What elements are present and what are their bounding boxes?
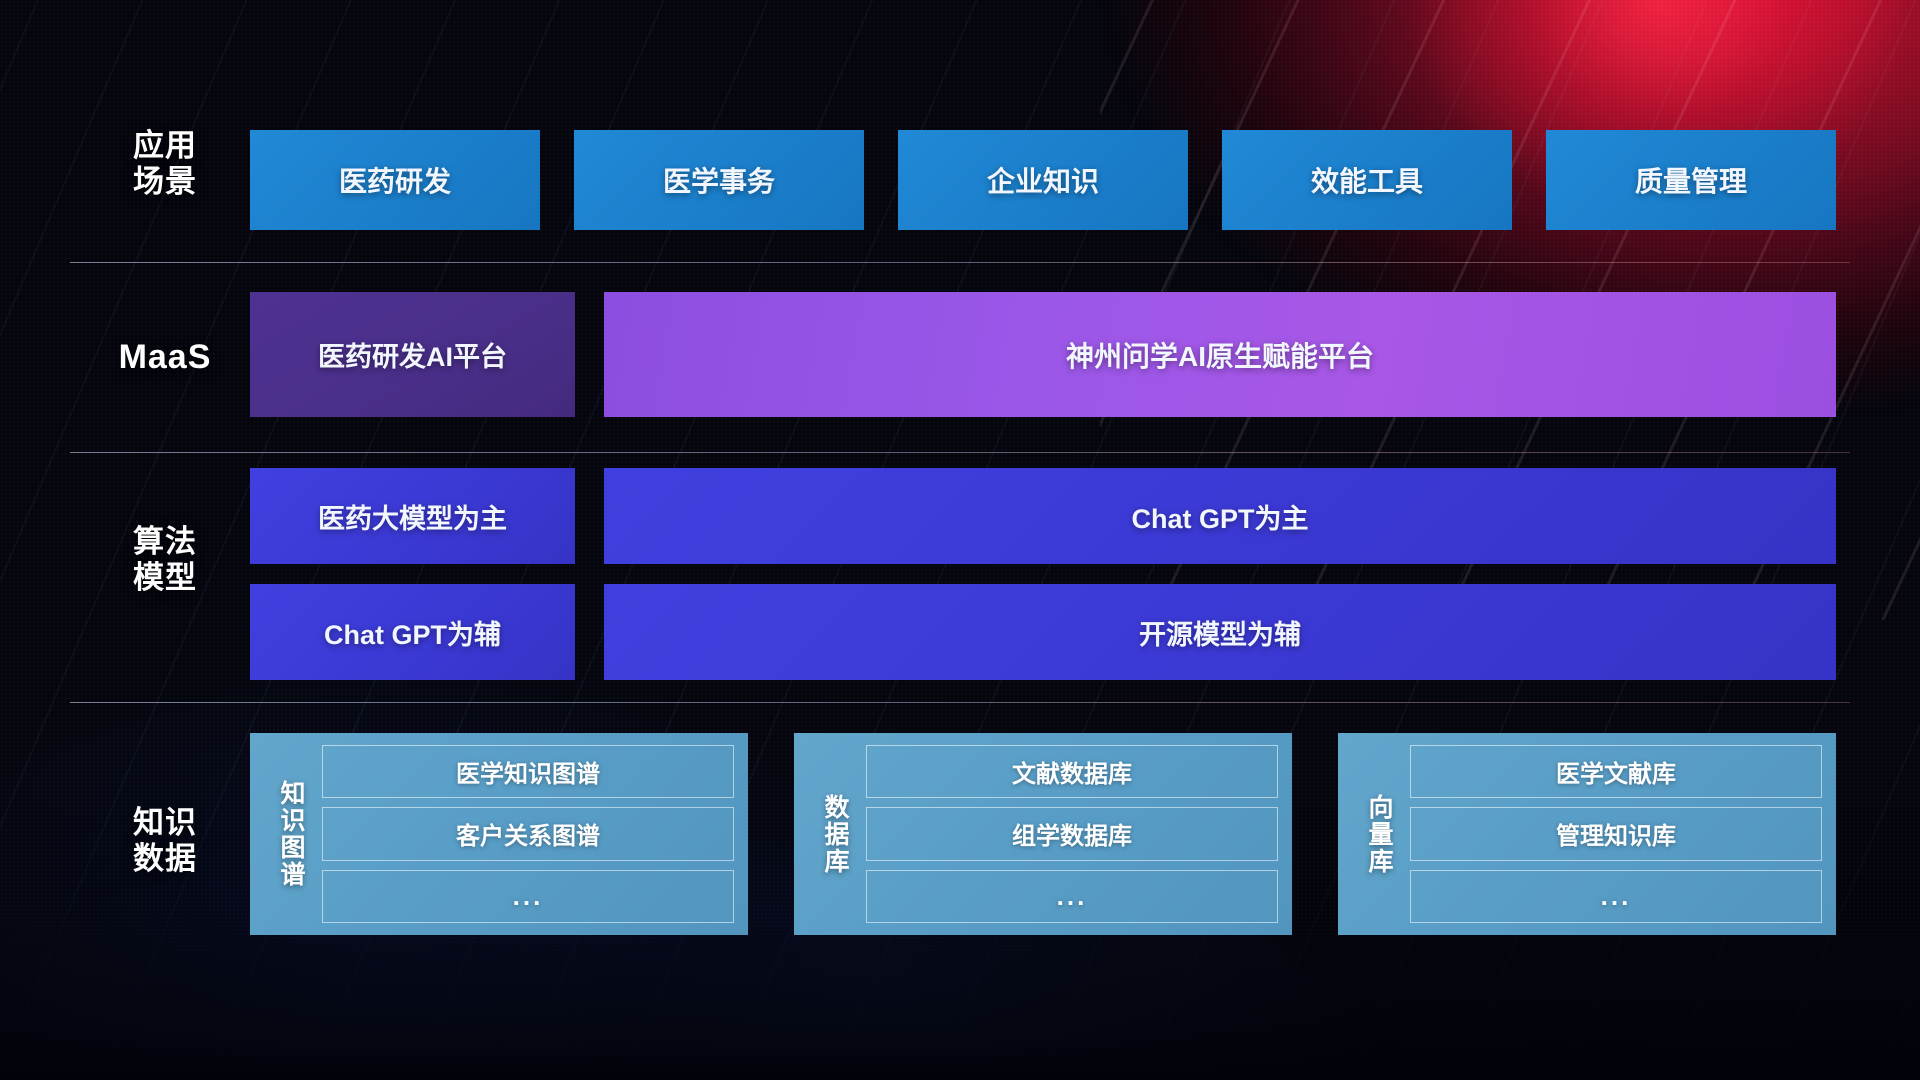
tile-label: 医药大模型为主 xyxy=(318,497,507,536)
divider-application-maas xyxy=(70,262,1850,263)
row-label-line: MaaS xyxy=(70,338,260,377)
tile-label: Chat GPT为主 xyxy=(1131,497,1308,536)
architecture-diagram: 应用 场景 医药研发 医学事务 企业知识 效能工具 质量管理 MaaS 医药研发… xyxy=(0,0,1920,1080)
row-label-line: 知识 xyxy=(70,805,260,841)
knowledge-item[interactable]: 文献数据库 xyxy=(866,745,1278,798)
tile-label: 效能工具 xyxy=(1311,160,1423,200)
tile-label: 开源模型为辅 xyxy=(1139,613,1301,652)
app-tile-medical-affairs[interactable]: 医学事务 xyxy=(574,130,864,230)
row-label-line: 模型 xyxy=(70,560,260,596)
tile-label: 医药研发AI平台 xyxy=(318,335,507,374)
knowledge-item[interactable]: 管理知识库 xyxy=(1410,807,1822,860)
panel-items: 文献数据库 组学数据库 ... xyxy=(866,745,1278,923)
knowledge-item[interactable]: 医学文献库 xyxy=(1410,745,1822,798)
tile-label: 质量管理 xyxy=(1635,160,1747,200)
maas-tile-shenzhou-wenxue-platform[interactable]: 神州问学AI原生赋能平台 xyxy=(604,292,1836,417)
algo-tile-chatgpt-secondary[interactable]: Chat GPT为辅 xyxy=(250,584,575,680)
row-label-line: 应用 xyxy=(70,128,260,164)
algo-tile-opensource-secondary[interactable]: 开源模型为辅 xyxy=(604,584,1836,680)
tile-label: 医学事务 xyxy=(663,160,775,200)
knowledge-panel-knowledge-graph[interactable]: 知识图谱 医学知识图谱 客户关系图谱 ... xyxy=(250,733,748,935)
row-label-maas: MaaS xyxy=(70,338,260,377)
tile-label: 企业知识 xyxy=(987,160,1099,200)
row-label-application: 应用 场景 xyxy=(70,128,260,200)
app-tile-efficiency-tools[interactable]: 效能工具 xyxy=(1222,130,1512,230)
panel-vertical-label: 向量库 xyxy=(1348,745,1410,923)
app-tile-quality-management[interactable]: 质量管理 xyxy=(1546,130,1836,230)
panel-vertical-label: 知识图谱 xyxy=(260,745,322,923)
knowledge-item[interactable]: 客户关系图谱 xyxy=(322,807,734,860)
row-label-line: 数据 xyxy=(70,841,260,877)
knowledge-panel-vector-store[interactable]: 向量库 医学文献库 管理知识库 ... xyxy=(1338,733,1836,935)
app-tile-medicine-rd[interactable]: 医药研发 xyxy=(250,130,540,230)
panel-items: 医学文献库 管理知识库 ... xyxy=(1410,745,1822,923)
tile-label: 神州问学AI原生赋能平台 xyxy=(1066,335,1374,375)
tile-label: Chat GPT为辅 xyxy=(324,613,501,652)
knowledge-item-more[interactable]: ... xyxy=(866,870,1278,923)
knowledge-item-more[interactable]: ... xyxy=(1410,870,1822,923)
row-label-line: 算法 xyxy=(70,524,260,560)
knowledge-item[interactable]: 医学知识图谱 xyxy=(322,745,734,798)
knowledge-panel-database[interactable]: 数据库 文献数据库 组学数据库 ... xyxy=(794,733,1292,935)
divider-algorithm-knowledge xyxy=(70,702,1850,703)
row-label-algorithm: 算法 模型 xyxy=(70,524,260,596)
divider-maas-algorithm xyxy=(70,452,1850,453)
knowledge-item[interactable]: 组学数据库 xyxy=(866,807,1278,860)
tile-label: 医药研发 xyxy=(339,160,451,200)
row-label-knowledge: 知识 数据 xyxy=(70,805,260,877)
knowledge-item-more[interactable]: ... xyxy=(322,870,734,923)
app-tile-enterprise-knowledge[interactable]: 企业知识 xyxy=(898,130,1188,230)
panel-vertical-label: 数据库 xyxy=(804,745,866,923)
algo-tile-chatgpt-primary[interactable]: Chat GPT为主 xyxy=(604,468,1836,564)
row-label-line: 场景 xyxy=(70,164,260,200)
algo-tile-pharma-llm-primary[interactable]: 医药大模型为主 xyxy=(250,468,575,564)
panel-items: 医学知识图谱 客户关系图谱 ... xyxy=(322,745,734,923)
maas-tile-pharma-ai-platform[interactable]: 医药研发AI平台 xyxy=(250,292,575,417)
